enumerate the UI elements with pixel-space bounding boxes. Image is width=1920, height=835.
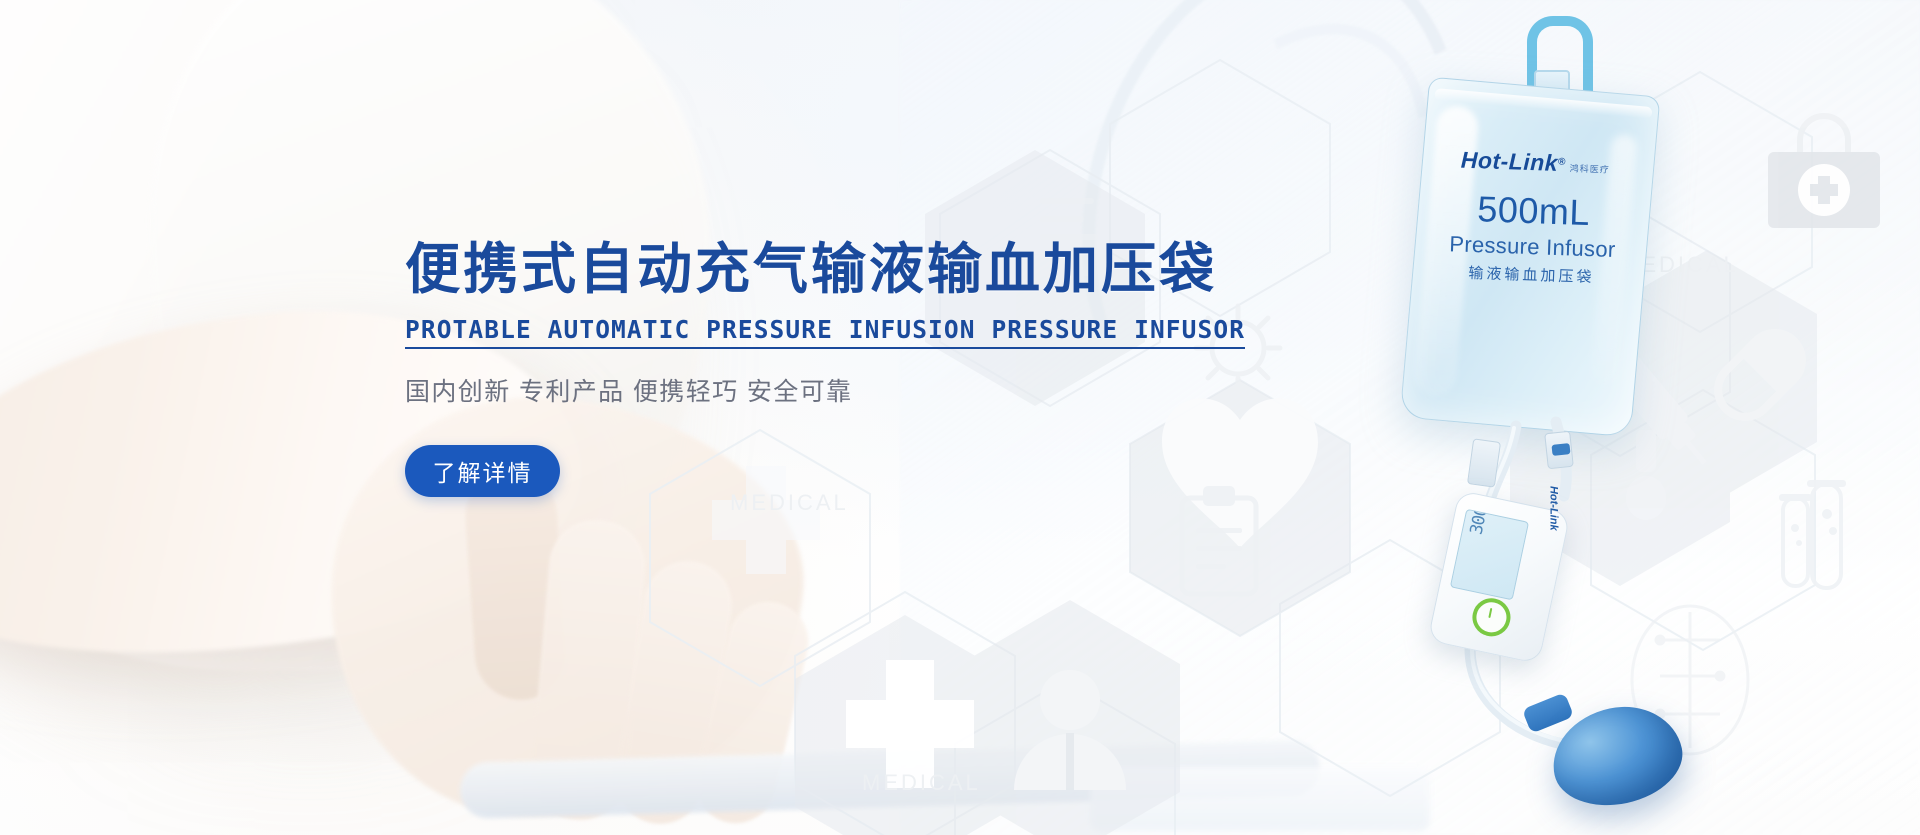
product-hero-banner: MEDICAL MEDICAL MEDICAL 便携式自动充气输液输血加压袋 P… — [0, 0, 1920, 835]
power-button-icon[interactable] — [1469, 595, 1514, 640]
pump-display-value: 300 268 — [1467, 509, 1500, 537]
nurse-thumb-shape — [462, 467, 570, 703]
learn-more-button[interactable]: 了解详情 — [405, 445, 560, 497]
pump-lcd-display: 300 268 — [1450, 509, 1529, 601]
feature-tagline: 国内创新 专利产品 便携轻巧 安全可靠 — [405, 380, 1235, 405]
medical-cross-icon — [846, 660, 974, 788]
hexagon-outline — [795, 592, 1015, 835]
medical-watermark-text: MEDICAL — [862, 770, 981, 795]
test-tubes-icon — [1779, 480, 1846, 588]
nurse-finger-shape — [688, 594, 817, 831]
hero-copy-block: 便携式自动充气输液输血加压袋 PROTABLE AUTOMATIC PRESSU… — [405, 242, 1235, 497]
instrument-tray-shape — [459, 739, 1320, 819]
page-title: 便携式自动充气输液输血加压袋 — [405, 242, 1235, 297]
blue-luer-connector — [1551, 443, 1570, 456]
hexagon-filled — [960, 600, 1180, 835]
product-image-group: Hot-Link®鸿科医疗 500mL Pressure Infusor 输液输… — [1320, 8, 1760, 828]
nurse-finger-shape — [527, 516, 649, 823]
pump-brand-name: Hot-Link — [1548, 486, 1560, 531]
hexagon-outline — [955, 680, 1175, 835]
clipboard-icon — [1182, 486, 1256, 594]
first-aid-kit-icon — [1768, 116, 1880, 228]
hexagon-filled — [795, 615, 1015, 835]
nurse-finger-shape — [610, 555, 738, 831]
subtitle-group: PROTABLE AUTOMATIC PRESSURE INFUSION PRE… — [405, 316, 1245, 349]
subtitle-underline — [405, 347, 1245, 349]
doctor-person-icon — [1014, 670, 1126, 790]
page-subtitle: PROTABLE AUTOMATIC PRESSURE INFUSION PRE… — [405, 316, 1245, 344]
